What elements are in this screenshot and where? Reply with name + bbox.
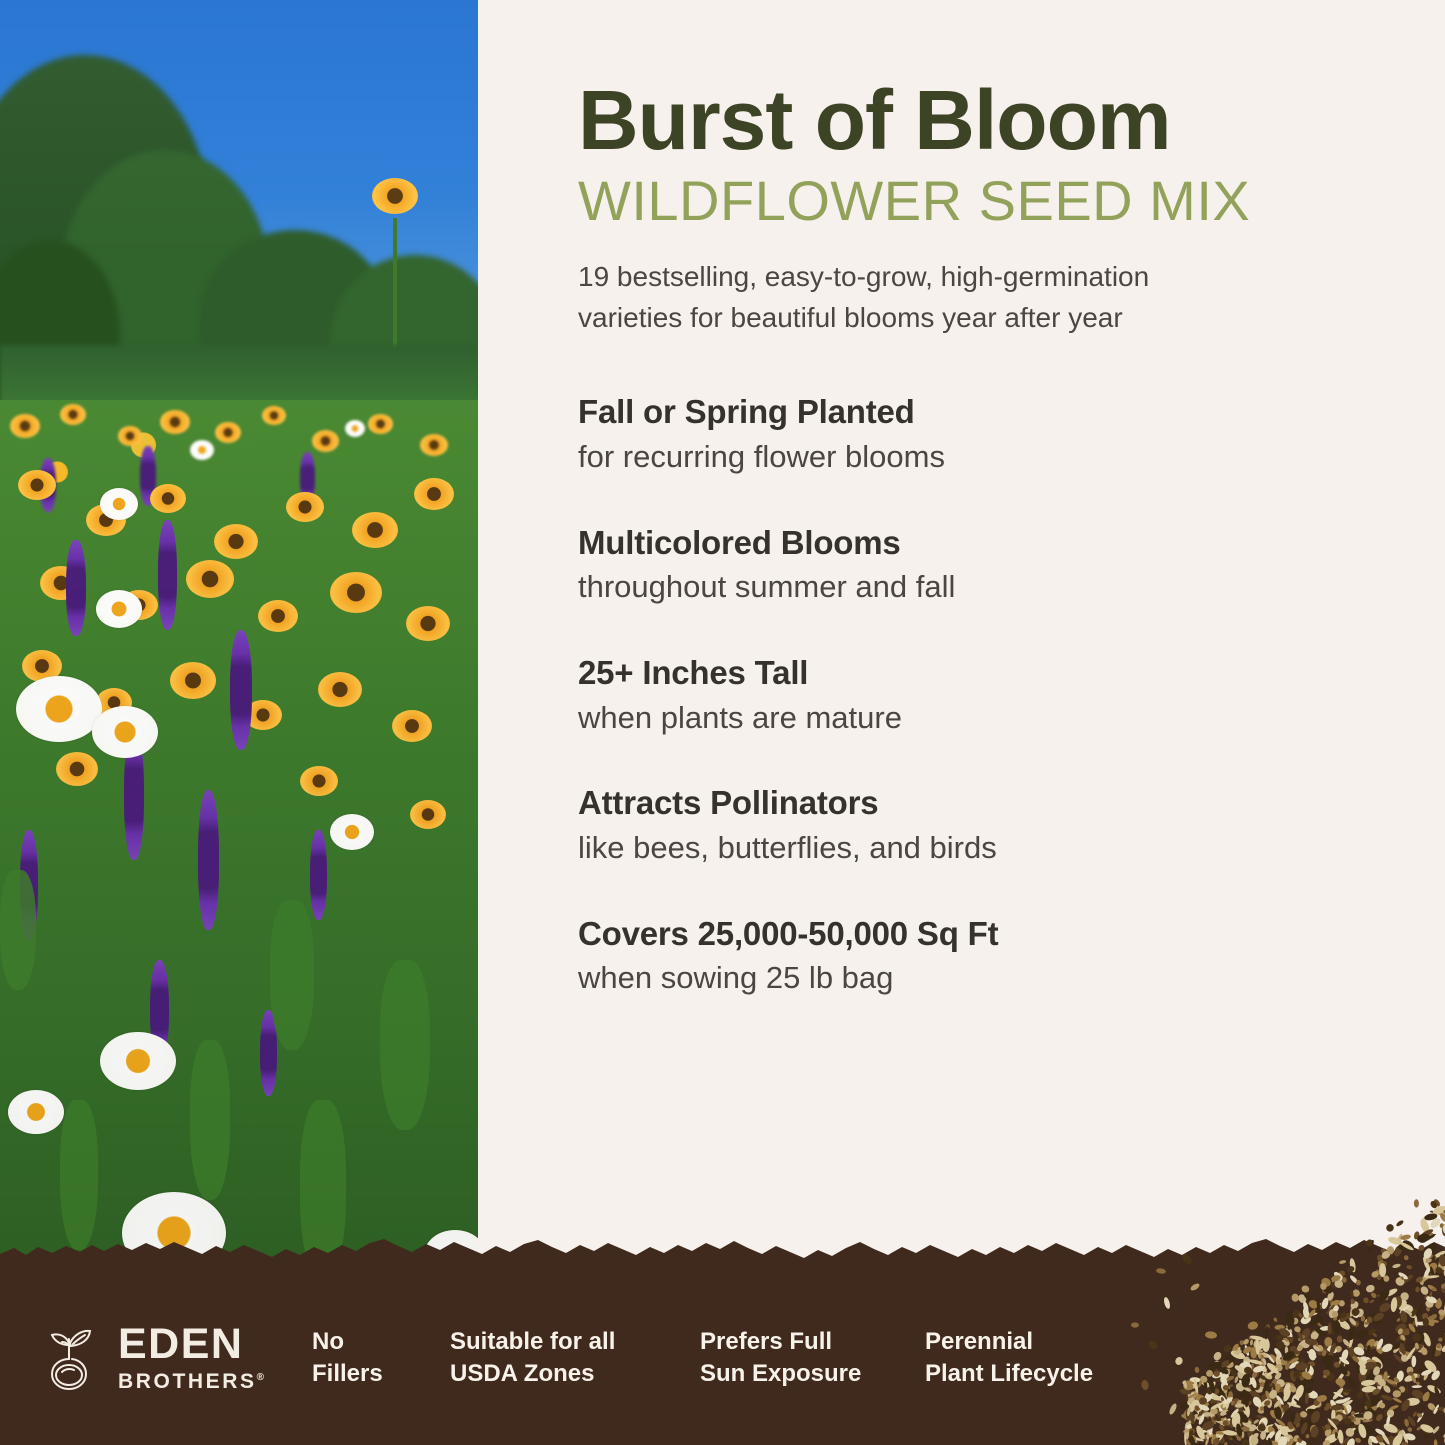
product-copy: Burst of Bloom WILDFLOWER SEED MIX 19 be… xyxy=(578,0,1378,1044)
torn-paper-edge xyxy=(0,1236,1445,1270)
feature-list: Fall or Spring Planted for recurring flo… xyxy=(578,392,1378,998)
photo-overlay xyxy=(0,0,478,1300)
benefit-line-2: Sun Exposure xyxy=(700,1358,925,1389)
feature-item: 25+ Inches Tall when plants are mature xyxy=(578,653,1378,737)
description-line-2: varieties for beautiful blooms year afte… xyxy=(578,302,1123,333)
benefit-line-1: Prefers Full xyxy=(700,1326,925,1357)
benefit-item-sun-exposure: Prefers Full Sun Exposure xyxy=(700,1326,925,1388)
product-description: 19 bestselling, easy-to-grow, high-germi… xyxy=(578,257,1318,338)
wildflower-meadow-photo xyxy=(0,0,478,1300)
feature-subtext: throughout summer and fall xyxy=(578,568,1378,607)
page-title: Burst of Bloom xyxy=(578,0,1378,164)
benefit-list: No Fillers Suitable for all USDA Zones P… xyxy=(312,1326,1445,1388)
description-line-1: 19 bestselling, easy-to-grow, high-germi… xyxy=(578,261,1149,292)
feature-item: Attracts Pollinators like bees, butterfl… xyxy=(578,783,1378,867)
feature-item: Covers 25,000-50,000 Sq Ft when sowing 2… xyxy=(578,914,1378,998)
benefit-line-1: Perennial xyxy=(925,1326,1155,1357)
registered-mark-icon: ® xyxy=(257,1372,267,1383)
benefit-line-2: USDA Zones xyxy=(450,1358,700,1389)
eden-brothers-logo[interactable]: EDEN BROTHERS® xyxy=(38,1323,288,1393)
feature-item: Multicolored Blooms throughout summer an… xyxy=(578,523,1378,607)
feature-heading: 25+ Inches Tall xyxy=(578,653,1378,693)
torn-edge-icon xyxy=(0,1236,1445,1270)
feature-heading: Covers 25,000-50,000 Sq Ft xyxy=(578,914,1378,954)
benefit-line-1: Suitable for all xyxy=(450,1326,700,1357)
feature-subtext: for recurring flower blooms xyxy=(578,438,1378,477)
benefit-item-lifecycle: Perennial Plant Lifecycle xyxy=(925,1326,1155,1388)
footer: EDEN BROTHERS® No Fillers Suitable for a… xyxy=(0,1270,1445,1445)
feature-item: Fall or Spring Planted for recurring flo… xyxy=(578,392,1378,476)
logo-wordmark: EDEN BROTHERS® xyxy=(118,1323,267,1392)
feature-subtext: like bees, butterflies, and birds xyxy=(578,829,1378,868)
seedling-sprout-icon xyxy=(38,1323,104,1393)
feature-heading: Multicolored Blooms xyxy=(578,523,1378,563)
page-subtitle: WILDFLOWER SEED MIX xyxy=(578,170,1378,232)
benefit-line-2: Plant Lifecycle xyxy=(925,1358,1155,1389)
benefit-item-usda-zones: Suitable for all USDA Zones xyxy=(450,1326,700,1388)
feature-subtext: when plants are mature xyxy=(578,699,1378,738)
product-infographic: Burst of Bloom WILDFLOWER SEED MIX 19 be… xyxy=(0,0,1445,1445)
benefit-line-1: No xyxy=(312,1326,450,1357)
feature-subtext: when sowing 25 lb bag xyxy=(578,959,1378,998)
benefit-item-no-fillers: No Fillers xyxy=(312,1326,450,1388)
logo-eden-text: EDEN xyxy=(118,1323,267,1366)
feature-heading: Attracts Pollinators xyxy=(578,783,1378,823)
logo-brothers-text: BROTHERS® xyxy=(118,1371,267,1392)
benefit-line-2: Fillers xyxy=(312,1358,450,1389)
feature-heading: Fall or Spring Planted xyxy=(578,392,1378,432)
